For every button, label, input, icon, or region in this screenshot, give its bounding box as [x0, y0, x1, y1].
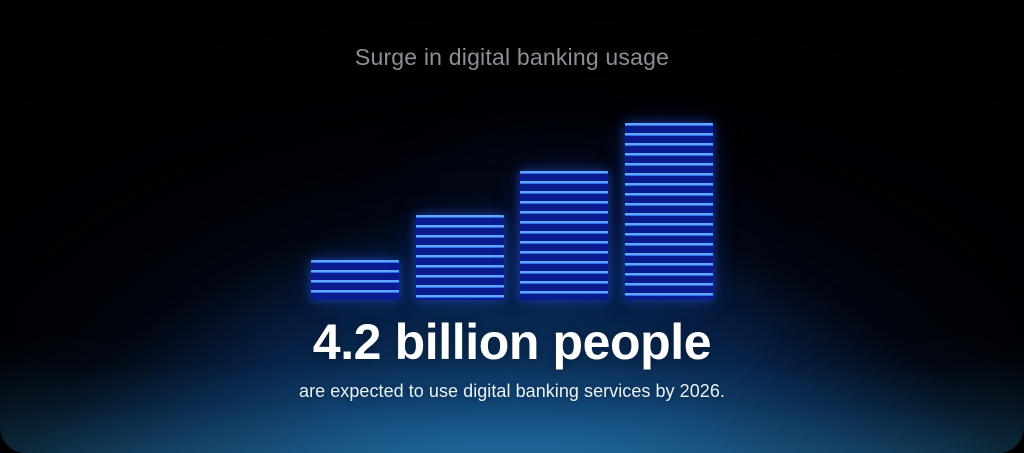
chart-title: Surge in digital banking usage — [0, 44, 1024, 71]
chart-bar — [625, 123, 713, 300]
chart-bar — [416, 215, 504, 300]
chart-bar — [520, 171, 608, 300]
infographic-card: Surge in digital banking usage 4.2 billi… — [0, 0, 1024, 453]
chart-bar — [311, 260, 399, 300]
stat-headline: 4.2 billion people — [0, 316, 1024, 369]
headline-block: 4.2 billion people are expected to use d… — [0, 316, 1024, 402]
bar-chart — [311, 110, 713, 300]
stat-subtext: are expected to use digital banking serv… — [0, 381, 1024, 402]
